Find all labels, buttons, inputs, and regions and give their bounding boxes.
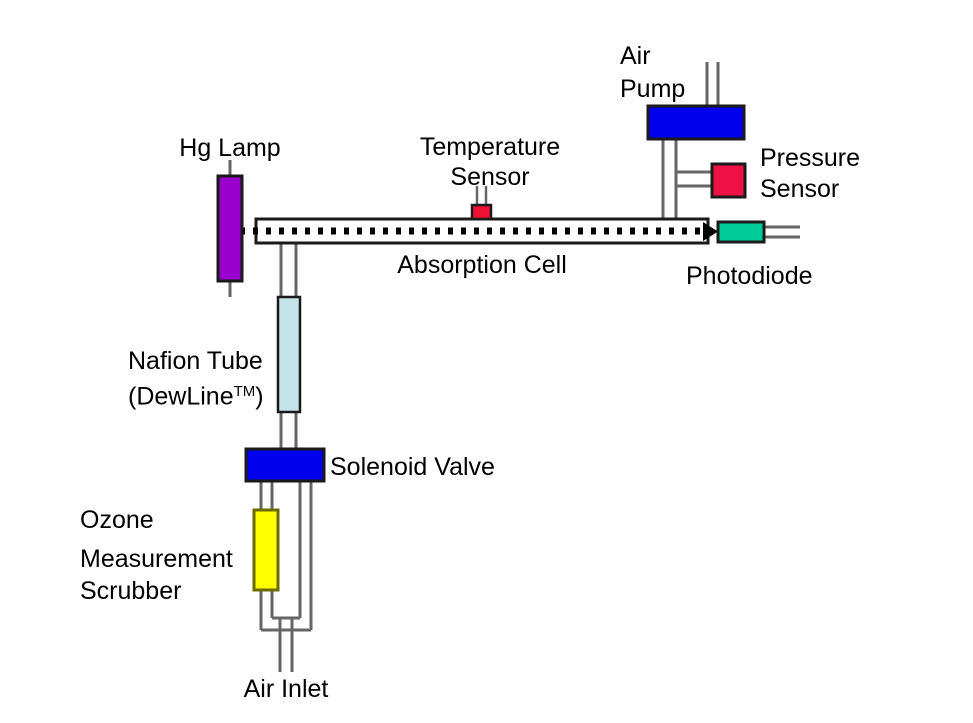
absorption-cell-label: Absorption Cell	[370, 250, 594, 280]
absorption-cell-body	[256, 219, 708, 243]
ozone-scrubber-label-line3: Scrubber	[80, 576, 181, 606]
temperature-sensor-label-line1: Temperature	[380, 132, 600, 162]
air-pump-label-line1: Air	[620, 41, 651, 71]
ozone-scrubber-body	[254, 510, 278, 590]
ozone-scrubber-label-line2: Measurement	[80, 544, 233, 574]
nafion-tube-label-prefix: (DewLine	[128, 382, 234, 410]
ozone-photometer-diagram: Hg Lamp Temperature Sensor Air Pump Pres…	[0, 0, 973, 723]
hg-lamp-body	[218, 176, 242, 281]
nafion-tube-label-line2: (DewLineTM)	[128, 377, 264, 411]
photodiode-label: Photodiode	[686, 261, 813, 291]
air-pump-label-line2: Pump	[620, 74, 685, 104]
pressure-sensor-body	[712, 164, 745, 197]
ozone-scrubber-label-line1: Ozone	[80, 505, 154, 535]
trademark-symbol: TM	[234, 383, 256, 400]
nafion-tube-label-line1: Nafion Tube	[128, 346, 263, 376]
air-pump-body	[648, 106, 744, 139]
pressure-sensor-label-line1: Pressure	[760, 143, 860, 173]
air-inlet-label: Air Inlet	[186, 674, 386, 704]
pressure-sensor-label-line2: Sensor	[760, 174, 839, 204]
solenoid-valve-body	[246, 449, 324, 481]
nafion-tube-body	[278, 297, 300, 412]
solenoid-valve-label: Solenoid Valve	[330, 452, 495, 482]
nafion-tube-label-suffix: )	[255, 382, 263, 410]
light-beam-arrowhead	[703, 222, 718, 241]
temperature-sensor-label-line2: Sensor	[380, 162, 600, 192]
photodiode-body	[718, 222, 764, 242]
temperature-sensor-body	[472, 205, 491, 219]
hg-lamp-label: Hg Lamp	[130, 133, 330, 163]
